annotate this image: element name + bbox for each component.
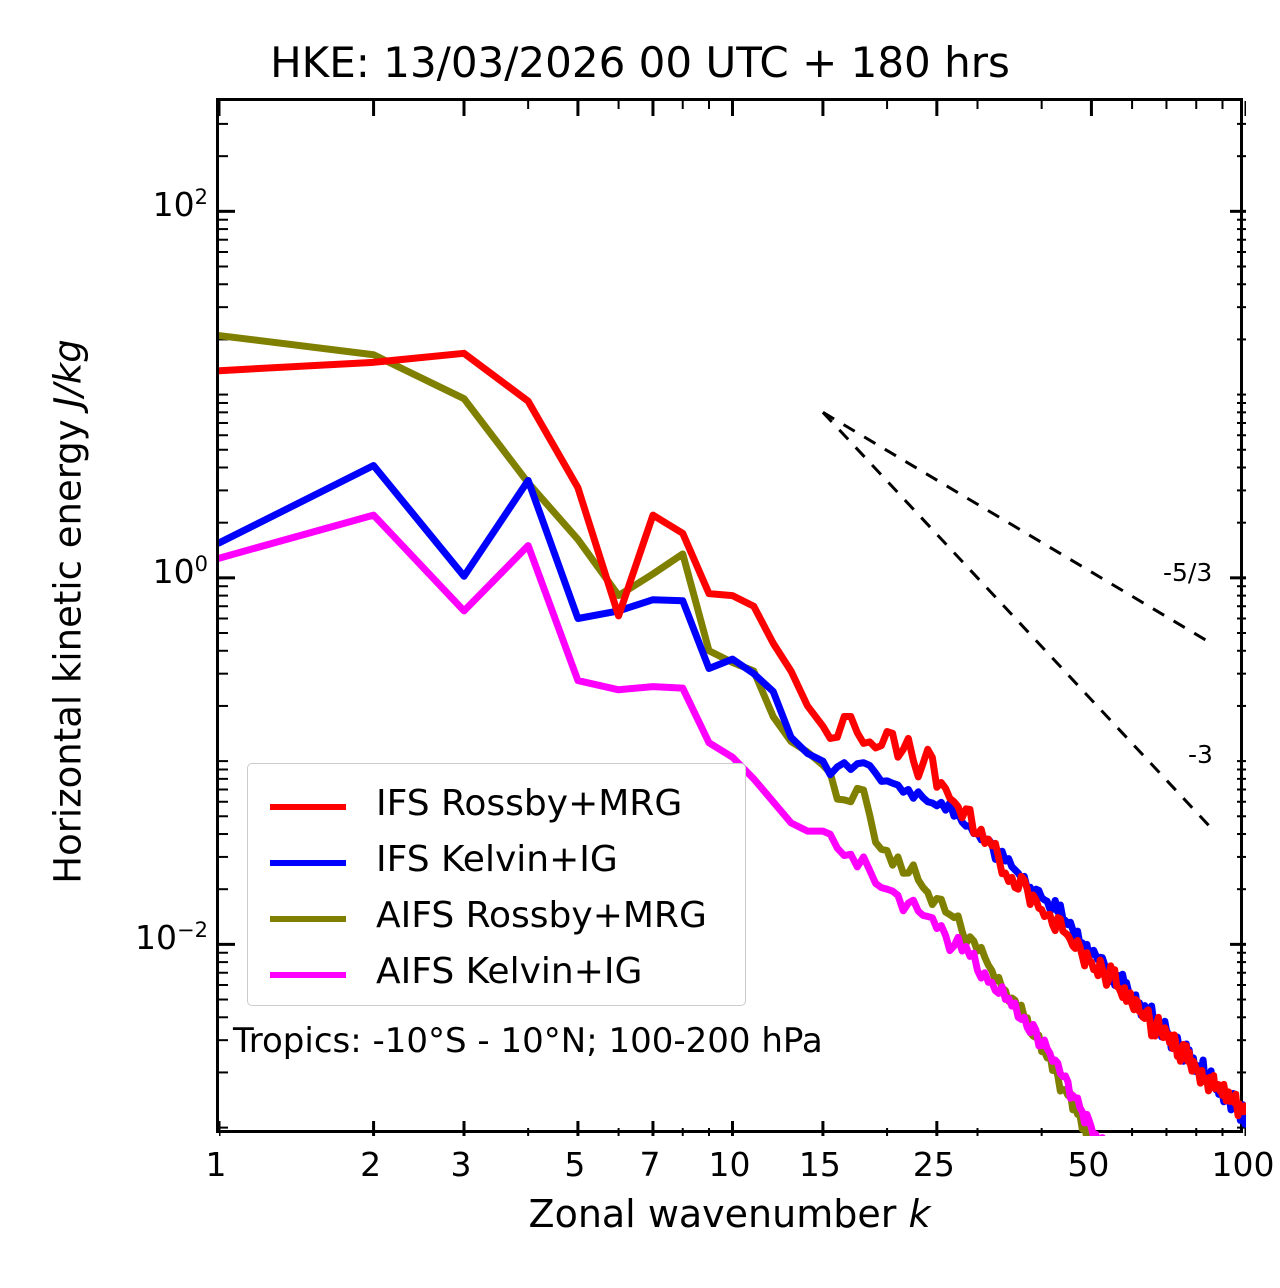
figure-root: HKE: 13/03/2026 00 UTC + 180 hrs Horizon… bbox=[0, 0, 1280, 1288]
x-axis-label-symbol: k bbox=[908, 1192, 930, 1236]
legend-item[interactable]: AIFS Kelvin+IG bbox=[248, 946, 747, 1002]
x-tick-label: 1 bbox=[206, 1145, 227, 1184]
legend-item-label: IFS Kelvin+IG bbox=[376, 839, 618, 880]
reference-slope-line bbox=[823, 412, 1210, 826]
region-annotation: Tropics: -10°S - 10°N; 100-200 hPa bbox=[233, 1021, 823, 1061]
x-tick-label: 3 bbox=[451, 1145, 472, 1184]
x-tick-label: 7 bbox=[639, 1145, 660, 1184]
reference-slope-line bbox=[823, 412, 1210, 642]
legend-item-label: AIFS Rossby+MRG bbox=[376, 895, 707, 936]
legend-color-swatch bbox=[270, 860, 346, 866]
x-tick-label: 2 bbox=[360, 1145, 381, 1184]
x-axis-label-text: Zonal wavenumber bbox=[529, 1192, 909, 1236]
legend-item[interactable]: IFS Kelvin+IG bbox=[248, 834, 747, 890]
legend-item-label: AIFS Kelvin+IG bbox=[376, 951, 642, 992]
x-tick-label: 10 bbox=[709, 1145, 751, 1184]
legend-item-label: IFS Rossby+MRG bbox=[376, 783, 682, 824]
x-tick-label: 25 bbox=[913, 1145, 955, 1184]
legend-item[interactable]: AIFS Rossby+MRG bbox=[248, 890, 747, 946]
x-tick-label: 50 bbox=[1067, 1145, 1109, 1184]
slope-label-0: -5/3 bbox=[1163, 558, 1212, 587]
legend-item[interactable]: IFS Rossby+MRG bbox=[248, 778, 747, 834]
x-axis-label: Zonal wavenumber k bbox=[216, 1192, 1243, 1236]
series-line bbox=[219, 336, 1132, 1136]
legend-color-swatch bbox=[270, 804, 346, 810]
x-tick-label: 5 bbox=[564, 1145, 585, 1184]
legend-color-swatch bbox=[270, 972, 346, 978]
slope-label-1: -3 bbox=[1188, 740, 1213, 769]
x-tick-label: 15 bbox=[799, 1145, 841, 1184]
x-tick-label: 100 bbox=[1212, 1145, 1275, 1184]
legend-box[interactable]: IFS Rossby+MRGIFS Kelvin+IGAIFS Rossby+M… bbox=[247, 763, 746, 1006]
legend-color-swatch bbox=[270, 916, 346, 922]
